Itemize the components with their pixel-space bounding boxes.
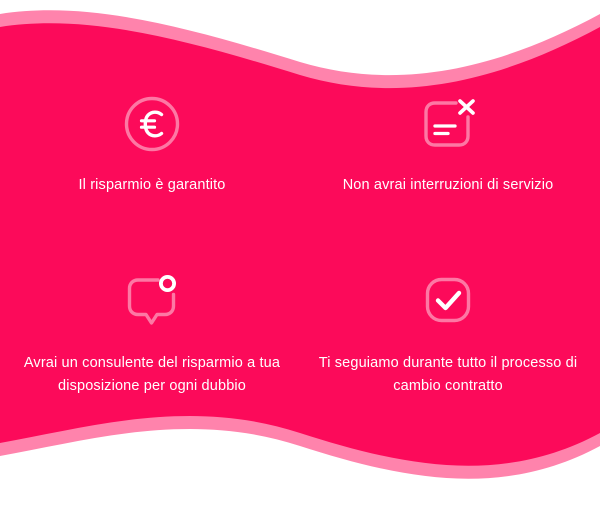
feature-grid: Il risparmio è garantito Non avrai inter… xyxy=(0,0,600,512)
check-square-icon xyxy=(416,268,480,332)
feature-item-no-interruptions: Non avrai interruzioni di servizio xyxy=(300,92,596,197)
feature-item-savings-guaranteed: Il risparmio è garantito xyxy=(4,92,300,197)
document-cancel-icon xyxy=(416,92,480,156)
benefits-panel: Il risparmio è garantito Non avrai inter… xyxy=(0,0,600,512)
euro-circle-icon xyxy=(120,92,184,156)
feature-label: Avrai un consulente del risparmio a tua … xyxy=(10,352,294,398)
feature-item-process-support: Ti seguiamo durante tutto il processo di… xyxy=(300,254,596,398)
chat-bubble-notification-icon xyxy=(120,268,184,332)
feature-label: Non avrai interruzioni di servizio xyxy=(343,174,554,197)
feature-label: Ti seguiamo durante tutto il processo di… xyxy=(306,352,590,398)
feature-item-consultant: Avrai un consulente del risparmio a tua … xyxy=(4,254,300,398)
feature-label: Il risparmio è garantito xyxy=(78,174,225,197)
